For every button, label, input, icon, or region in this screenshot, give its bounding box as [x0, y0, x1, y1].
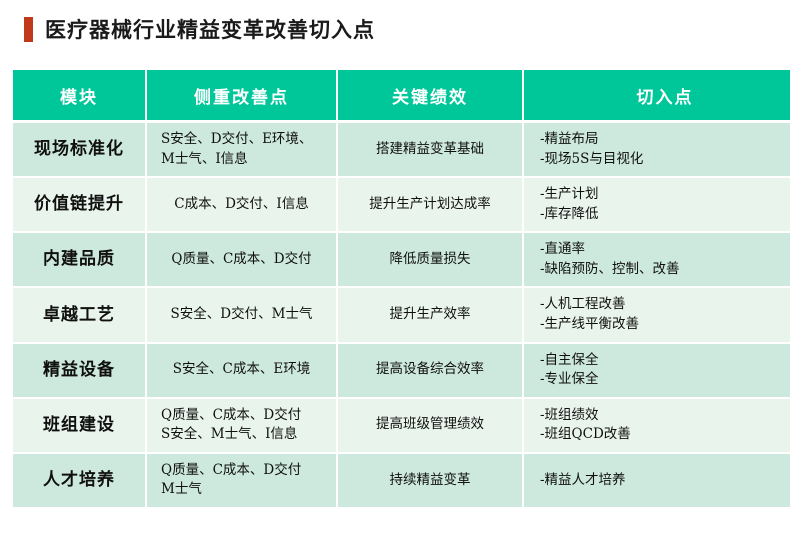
- cell-line: -库存降低: [540, 205, 780, 225]
- cell-line: -缺陷预防、控制、改善: [540, 260, 780, 280]
- cell-kpi: 搭建精益变革基础: [338, 123, 524, 178]
- cell-line: S安全、D交付、E环境、: [161, 130, 326, 150]
- cell-line: S安全、M士气、I信息: [161, 425, 326, 445]
- cell-module: 精益设备: [13, 344, 147, 399]
- table-row: 内建品质 Q质量、C成本、D交付 降低质量损失 -直通率 -缺陷预防、控制、改善: [13, 233, 790, 288]
- cell-line: 提升生产效率: [348, 305, 512, 325]
- cell-focus: S安全、C成本、E环境: [147, 344, 338, 399]
- cell-entry-point: -生产计划 -库存降低: [524, 178, 790, 233]
- cell-line: M士气: [161, 480, 326, 500]
- cell-line: -班组QCD改善: [540, 425, 780, 445]
- cell-line: Q质量、C成本、D交付: [161, 406, 326, 426]
- cell-entry-point: -直通率 -缺陷预防、控制、改善: [524, 233, 790, 288]
- column-header-focus: 侧重改善点: [147, 70, 338, 123]
- column-header-module: 模块: [13, 70, 147, 123]
- cell-focus: Q质量、C成本、D交付 M士气: [147, 454, 338, 507]
- cell-module: 价值链提升: [13, 178, 147, 233]
- cell-kpi: 提升生产计划达成率: [338, 178, 524, 233]
- cell-module: 卓越工艺: [13, 288, 147, 343]
- cell-line: C成本、D交付、I信息: [157, 195, 326, 215]
- cell-focus: Q质量、C成本、D交付: [147, 233, 338, 288]
- cell-module: 班组建设: [13, 399, 147, 454]
- lean-transformation-table: 模块 侧重改善点 关键绩效 切入点 现场标准化 S安全、D交付、E环境、 M士气…: [13, 70, 790, 507]
- cell-focus: S安全、D交付、E环境、 M士气、I信息: [147, 123, 338, 178]
- title-accent-bar-icon: [24, 17, 33, 42]
- cell-kpi: 提高设备综合效率: [338, 344, 524, 399]
- cell-line: -专业保全: [540, 370, 780, 390]
- cell-entry-point: -人机工程改善 -生产线平衡改善: [524, 288, 790, 343]
- column-header-entry-point: 切入点: [524, 70, 790, 123]
- cell-focus: S安全、D交付、M士气: [147, 288, 338, 343]
- cell-line: -精益布局: [540, 130, 780, 150]
- cell-line: -人机工程改善: [540, 295, 780, 315]
- cell-module: 现场标准化: [13, 123, 147, 178]
- cell-line: 提升生产计划达成率: [348, 195, 512, 215]
- column-header-kpi: 关键绩效: [338, 70, 524, 123]
- cell-entry-point: -班组绩效 -班组QCD改善: [524, 399, 790, 454]
- cell-line: -精益人才培养: [540, 471, 780, 491]
- cell-line: -直通率: [540, 240, 780, 260]
- cell-line: Q质量、C成本、D交付: [157, 250, 326, 270]
- cell-focus: C成本、D交付、I信息: [147, 178, 338, 233]
- cell-kpi: 持续精益变革: [338, 454, 524, 507]
- cell-line: 搭建精益变革基础: [348, 140, 512, 160]
- cell-line: 提高班级管理绩效: [348, 415, 512, 435]
- table-row: 人才培养 Q质量、C成本、D交付 M士气 持续精益变革 -精益人才培养: [13, 454, 790, 507]
- cell-kpi: 提升生产效率: [338, 288, 524, 343]
- table-row: 卓越工艺 S安全、D交付、M士气 提升生产效率 -人机工程改善 -生产线平衡改善: [13, 288, 790, 343]
- cell-line: M士气、I信息: [161, 150, 326, 170]
- table-row: 班组建设 Q质量、C成本、D交付 S安全、M士气、I信息 提高班级管理绩效 -班…: [13, 399, 790, 454]
- cell-line: 提高设备综合效率: [348, 360, 512, 380]
- table-header: 模块 侧重改善点 关键绩效 切入点: [13, 70, 790, 123]
- cell-line: -现场5S与目视化: [540, 150, 780, 170]
- cell-line: -生产计划: [540, 185, 780, 205]
- page-title-text: 医疗器械行业精益变革改善切入点: [45, 19, 375, 40]
- page-title: 医疗器械行业精益变革改善切入点: [24, 12, 375, 46]
- cell-line: S安全、C成本、E环境: [157, 360, 326, 380]
- cell-line: 降低质量损失: [348, 250, 512, 270]
- cell-kpi: 提高班级管理绩效: [338, 399, 524, 454]
- cell-line: S安全、D交付、M士气: [157, 305, 326, 325]
- cell-entry-point: -精益人才培养: [524, 454, 790, 507]
- cell-line: -班组绩效: [540, 406, 780, 426]
- table-row: 现场标准化 S安全、D交付、E环境、 M士气、I信息 搭建精益变革基础 -精益布…: [13, 123, 790, 178]
- cell-kpi: 降低质量损失: [338, 233, 524, 288]
- table-row: 价值链提升 C成本、D交付、I信息 提升生产计划达成率 -生产计划 -库存降低: [13, 178, 790, 233]
- cell-module: 人才培养: [13, 454, 147, 507]
- cell-module: 内建品质: [13, 233, 147, 288]
- table-body: 现场标准化 S安全、D交付、E环境、 M士气、I信息 搭建精益变革基础 -精益布…: [13, 123, 790, 507]
- cell-line: -生产线平衡改善: [540, 315, 780, 335]
- cell-entry-point: -精益布局 -现场5S与目视化: [524, 123, 790, 178]
- slide-canvas: 医疗器械行业精益变革改善切入点 模块 侧重改善点 关键绩效 切入点 现场标准化 …: [0, 0, 806, 543]
- cell-focus: Q质量、C成本、D交付 S安全、M士气、I信息: [147, 399, 338, 454]
- table-row: 精益设备 S安全、C成本、E环境 提高设备综合效率 -自主保全 -专业保全: [13, 344, 790, 399]
- cell-entry-point: -自主保全 -专业保全: [524, 344, 790, 399]
- cell-line: -自主保全: [540, 351, 780, 371]
- table-header-row: 模块 侧重改善点 关键绩效 切入点: [13, 70, 790, 123]
- cell-line: 持续精益变革: [348, 471, 512, 491]
- cell-line: Q质量、C成本、D交付: [161, 461, 326, 481]
